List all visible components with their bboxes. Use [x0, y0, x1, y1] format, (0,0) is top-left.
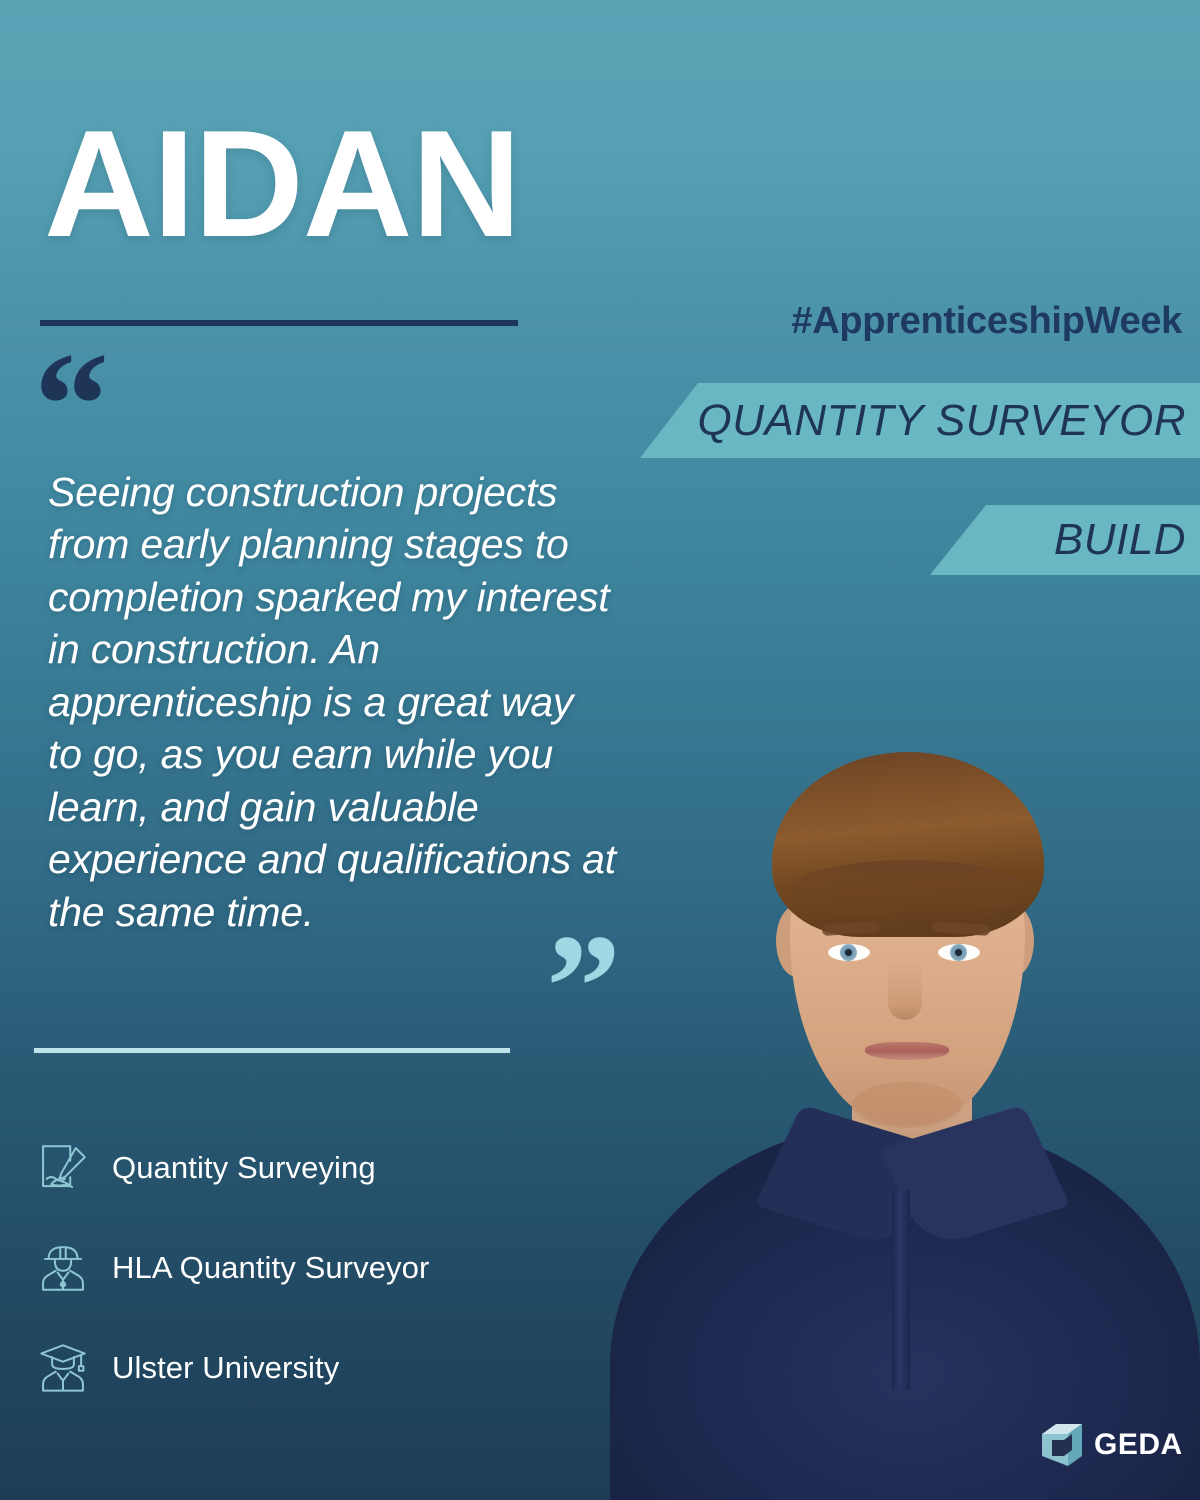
quote-divider	[34, 1048, 510, 1053]
page-title: AIDAN	[44, 108, 520, 260]
info-row-employer: HLA Quantity Surveyor	[34, 1218, 594, 1318]
graduation-cap-icon	[34, 1339, 92, 1397]
apprenticeship-profile-poster: AIDAN #ApprenticeshipWeek QUANTITY SURVE…	[0, 0, 1200, 1500]
info-row-university: Ulster University	[34, 1318, 594, 1418]
info-label-course: Quantity Surveying	[112, 1150, 376, 1186]
sector-badge: BUILD	[930, 505, 1200, 575]
portrait-hair	[772, 752, 1044, 937]
info-label-employer: HLA Quantity Surveyor	[112, 1250, 429, 1286]
role-badge-label: QUANTITY SURVEYOR	[697, 396, 1186, 446]
campaign-hashtag: #ApprenticeshipWeek	[791, 300, 1182, 343]
info-label-university: Ulster University	[112, 1350, 339, 1386]
portrait-nose	[888, 958, 922, 1020]
hard-hat-worker-icon	[34, 1239, 92, 1297]
info-row-course: Quantity Surveying	[34, 1118, 594, 1218]
portrait-chin	[852, 1082, 962, 1128]
portrait-mouth	[865, 1042, 949, 1060]
sector-badge-label: BUILD	[1054, 515, 1186, 565]
role-badge: QUANTITY SURVEYOR	[640, 383, 1200, 458]
writing-hand-icon	[34, 1139, 92, 1197]
title-divider	[40, 320, 518, 326]
portrait-photo	[600, 690, 1200, 1500]
geda-cube-icon	[1040, 1422, 1084, 1468]
quote-text: Seeing construction projects from early …	[48, 466, 618, 938]
portrait-eye-left	[828, 944, 870, 961]
info-list: Quantity Surveying HLA Quantity Surveyor	[34, 1118, 594, 1418]
portrait-eye-right	[938, 944, 980, 961]
geda-logo: GEDA	[1040, 1422, 1183, 1468]
quote-open-mark: “	[34, 330, 103, 480]
quote-close-mark: ”	[546, 912, 615, 1062]
portrait-shirt-placket	[892, 1190, 910, 1390]
geda-wordmark: GEDA	[1094, 1430, 1183, 1460]
